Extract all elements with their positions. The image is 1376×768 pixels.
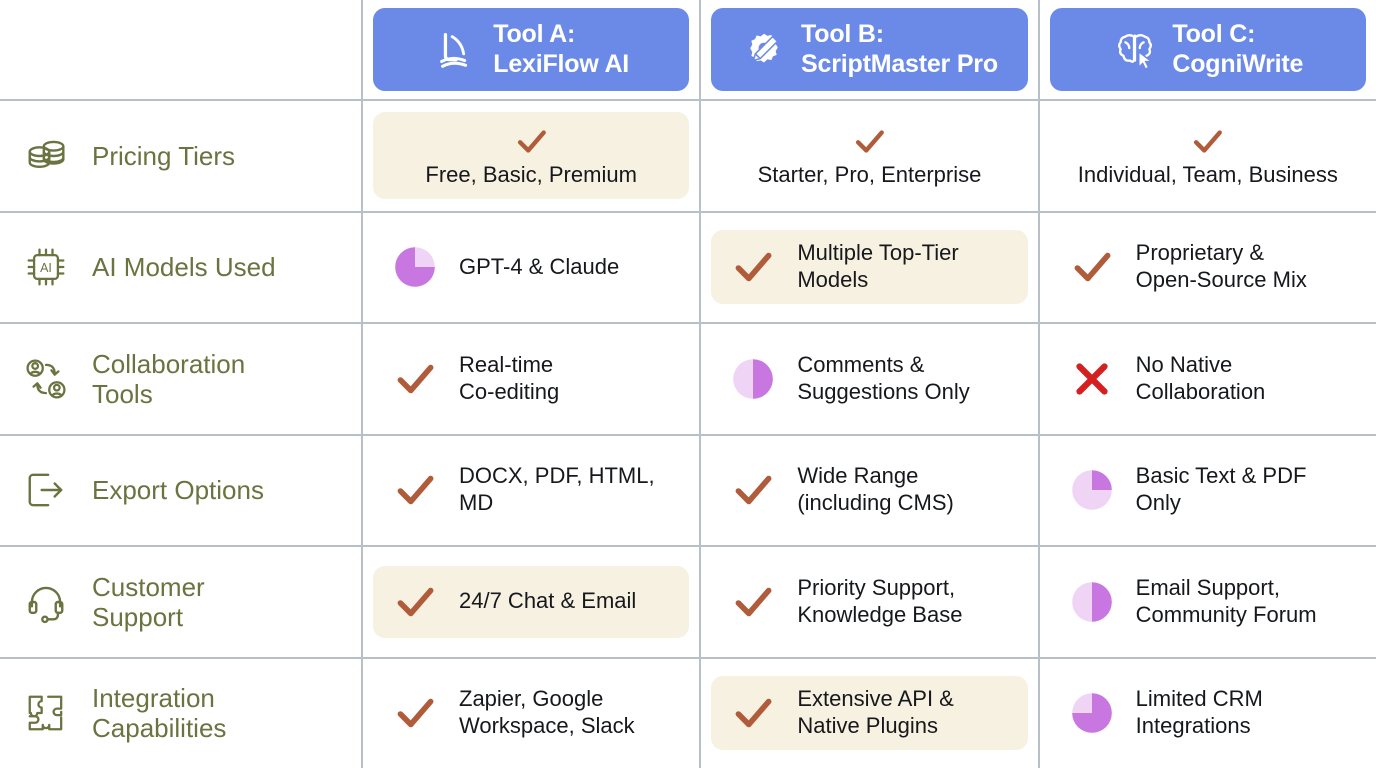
export-arrow-icon (18, 462, 74, 518)
book-flow-icon (433, 27, 479, 73)
row-label-cell: Integration Capabilities (0, 659, 363, 768)
table-row: Customer Support24/7 Chat & EmailPriorit… (0, 547, 1376, 659)
value-text: DOCX, PDF, HTML, MD (459, 463, 655, 517)
cross-icon (1064, 353, 1120, 405)
value-cell: Basic Text & PDF Only (1040, 436, 1376, 546)
tool-b-chip[interactable]: Tool B: ScriptMaster Pro (711, 8, 1027, 91)
value-text: Priority Support, Knowledge Base (797, 575, 962, 629)
brain-cursor-icon (1112, 27, 1158, 73)
value-cell: Limited CRM Integrations (1040, 659, 1376, 768)
value-box: DOCX, PDF, HTML, MD (373, 453, 689, 527)
value-cell: GPT-4 & Claude (363, 213, 701, 323)
value-cell: Extensive API & Native Plugins (701, 659, 1039, 768)
check-icon (387, 576, 443, 628)
value-text: Individual, Team, Business (1078, 162, 1338, 189)
check-icon (387, 464, 443, 516)
check-icon (1186, 122, 1230, 160)
value-text: Extensive API & Native Plugins (797, 686, 954, 740)
value-box: GPT-4 & Claude (373, 231, 689, 303)
value-cell: Multiple Top-Tier Models (701, 213, 1039, 323)
header-cell-tool-b: Tool B: ScriptMaster Pro (701, 0, 1039, 99)
ai-chip-icon: AI (18, 239, 74, 295)
value-highlight-box: Free, Basic, Premium (373, 112, 689, 199)
check-icon (847, 122, 891, 160)
check-icon (725, 241, 781, 293)
value-text: Comments & Suggestions Only (797, 352, 969, 406)
value-text: Basic Text & PDF Only (1136, 463, 1307, 517)
value-cell: No Native Collaboration (1040, 324, 1376, 434)
value-box: Proprietary & Open-Source Mix (1050, 230, 1366, 304)
headset-support-icon (18, 574, 74, 630)
puzzle-pieces-icon (18, 685, 74, 741)
value-box: Comments & Suggestions Only (711, 342, 1027, 416)
pie-50-right-icon (725, 353, 781, 405)
pie-75-br-icon (387, 241, 443, 293)
tool-a-title: Tool A: LexiFlow AI (493, 20, 629, 79)
value-text: Starter, Pro, Enterprise (758, 162, 982, 189)
value-text: Free, Basic, Premium (425, 162, 637, 189)
pie-50-right-icon (1064, 576, 1120, 628)
row-label-text: AI Models Used (92, 252, 276, 282)
check-icon (387, 687, 443, 739)
pie-75-bl-icon (1064, 687, 1120, 739)
value-text: No Native Collaboration (1136, 352, 1266, 406)
row-label-text: Pricing Tiers (92, 141, 235, 171)
value-text: GPT-4 & Claude (459, 254, 619, 281)
value-cell: DOCX, PDF, HTML, MD (363, 436, 701, 546)
value-highlight-box: 24/7 Chat & Email (373, 566, 689, 638)
value-box: Limited CRM Integrations (1050, 676, 1366, 750)
row-label-cell: AIAI Models Used (0, 213, 363, 323)
tool-c-chip[interactable]: Tool C: CogniWrite (1050, 8, 1366, 91)
value-cell: Email Support, Community Forum (1040, 547, 1376, 657)
value-text: Real-time Co-editing (459, 352, 559, 406)
row-label-text: Integration Capabilities (92, 683, 226, 743)
value-highlight-box: Extensive API & Native Plugins (711, 676, 1027, 750)
value-text: Zapier, Google Workspace, Slack (459, 686, 635, 740)
value-box: Individual, Team, Business (1050, 112, 1366, 199)
gear-pencil-icon (741, 27, 787, 73)
value-text: Email Support, Community Forum (1136, 575, 1317, 629)
header-cell-tool-a: Tool A: LexiFlow AI (363, 0, 701, 99)
value-text: Multiple Top-Tier Models (797, 240, 958, 294)
coins-stack-icon (18, 128, 74, 184)
value-cell: Wide Range (including CMS) (701, 436, 1039, 546)
row-label-cell: Customer Support (0, 547, 363, 657)
check-icon (509, 122, 553, 160)
row-label-cell: Export Options (0, 436, 363, 546)
check-icon (725, 576, 781, 628)
collaboration-users-icon (18, 351, 74, 407)
value-text: Proprietary & Open-Source Mix (1136, 240, 1307, 294)
value-text: Wide Range (including CMS) (797, 463, 954, 517)
value-cell: 24/7 Chat & Email (363, 547, 701, 657)
table-header-row: Tool A: LexiFlow AI Tool B: ScriptMaster… (0, 0, 1376, 101)
value-box: Priority Support, Knowledge Base (711, 565, 1027, 639)
value-box: Zapier, Google Workspace, Slack (373, 676, 689, 750)
pie-25-tr-icon (1064, 464, 1120, 516)
table-row: Pricing TiersFree, Basic, PremiumStarter… (0, 101, 1376, 213)
value-cell: Real-time Co-editing (363, 324, 701, 434)
row-label-text: Collaboration Tools (92, 349, 245, 409)
check-icon (1064, 241, 1120, 293)
check-icon (725, 464, 781, 516)
value-cell: Comments & Suggestions Only (701, 324, 1039, 434)
value-text: 24/7 Chat & Email (459, 588, 636, 615)
table-row: AIAI Models UsedGPT-4 & ClaudeMultiple T… (0, 213, 1376, 325)
value-cell: Priority Support, Knowledge Base (701, 547, 1039, 657)
table-row: Integration CapabilitiesZapier, Google W… (0, 659, 1376, 768)
row-label-cell: Pricing Tiers (0, 101, 363, 211)
value-text: Limited CRM Integrations (1136, 686, 1263, 740)
value-box: Basic Text & PDF Only (1050, 453, 1366, 527)
header-cell-tool-c: Tool C: CogniWrite (1040, 0, 1376, 99)
row-label-text: Export Options (92, 475, 264, 505)
value-box: Wide Range (including CMS) (711, 453, 1027, 527)
row-label-text: Customer Support (92, 572, 205, 632)
table-row: Collaboration ToolsReal-time Co-editingC… (0, 324, 1376, 436)
value-cell: Proprietary & Open-Source Mix (1040, 213, 1376, 323)
check-icon (387, 353, 443, 405)
check-icon (725, 687, 781, 739)
value-cell: Individual, Team, Business (1040, 101, 1376, 211)
value-highlight-box: Multiple Top-Tier Models (711, 230, 1027, 304)
table-body: Pricing TiersFree, Basic, PremiumStarter… (0, 101, 1376, 768)
tool-c-title: Tool C: CogniWrite (1172, 20, 1303, 79)
tool-b-title: Tool B: ScriptMaster Pro (801, 20, 998, 79)
value-cell: Zapier, Google Workspace, Slack (363, 659, 701, 768)
value-box: No Native Collaboration (1050, 342, 1366, 416)
value-box: Starter, Pro, Enterprise (711, 112, 1027, 199)
value-box: Real-time Co-editing (373, 342, 689, 416)
value-cell: Starter, Pro, Enterprise (701, 101, 1039, 211)
svg-text:AI: AI (40, 261, 52, 275)
value-box: Email Support, Community Forum (1050, 565, 1366, 639)
value-cell: Free, Basic, Premium (363, 101, 701, 211)
row-label-cell: Collaboration Tools (0, 324, 363, 434)
tool-a-chip[interactable]: Tool A: LexiFlow AI (373, 8, 689, 91)
table-row: Export OptionsDOCX, PDF, HTML, MDWide Ra… (0, 436, 1376, 548)
header-corner-cell (0, 0, 363, 99)
comparison-table: Tool A: LexiFlow AI Tool B: ScriptMaster… (0, 0, 1376, 768)
